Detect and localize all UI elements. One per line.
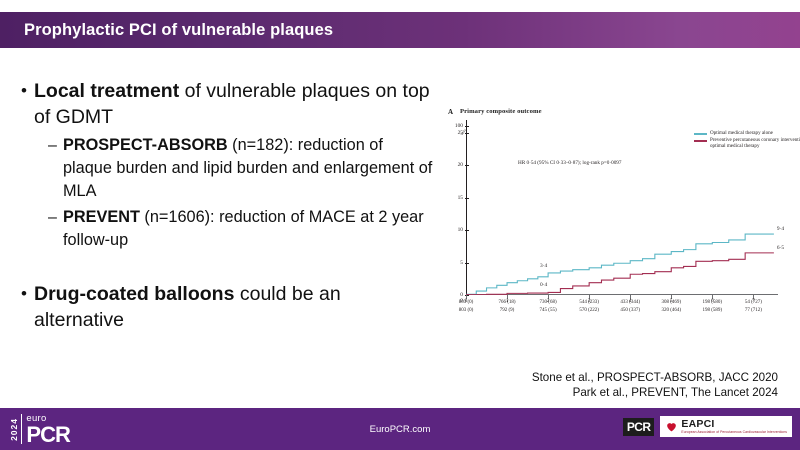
- legend-label: Optimal medical therapy alone: [710, 130, 773, 136]
- table-row: 803 (0)766 (18)730 (68)544 (233)433 (344…: [450, 300, 796, 308]
- bullet-marker-icon: •: [14, 281, 34, 307]
- sub-bullet-prevent: – PREVENT (n=1606): reduction of MACE at…: [48, 206, 434, 252]
- table-cell: 198 (589): [703, 308, 723, 313]
- table-cell: 570 (222): [579, 308, 599, 313]
- sub-bullet-list: – PROSPECT-ABSORB (n=182): reduction of …: [48, 134, 434, 252]
- y-tick-label: 20: [458, 162, 463, 168]
- slide-title-bar: Prophylactic PCI of vulnerable plaques: [0, 12, 800, 48]
- curve-mid-label-intervention: 0·4: [540, 282, 547, 288]
- eapci-subtitle: European Association of Percutaneous Car…: [681, 430, 787, 434]
- eapci-name: EAPCI: [681, 419, 787, 430]
- sub-bullet-bold-lead: PREVENT: [63, 208, 140, 226]
- table-cell: 544 (233): [579, 300, 599, 305]
- chart-legend: Optimal medical therapy alone Preventive…: [694, 130, 800, 151]
- bullet-text: Drug-coated balloons could be an alterna…: [34, 281, 434, 333]
- bullet-text: Local treatment of vulnerable plaques on…: [34, 78, 434, 130]
- bullet-marker-icon: •: [14, 78, 34, 104]
- table-cell: 766 (18): [499, 300, 516, 305]
- curve-end-label-intervention: 6·5: [777, 245, 784, 251]
- footer-logos: PCR EAPCI European Association of Percut…: [623, 416, 792, 437]
- y-tick-label: 100: [455, 123, 463, 129]
- table-cell: 198 (580): [703, 300, 723, 305]
- table-cell: 320 (464): [661, 308, 681, 313]
- dash-marker-icon: –: [48, 206, 63, 229]
- table-cell: 745 (55): [540, 308, 557, 313]
- bullet-item-drug-coated-balloons: • Drug-coated balloons could be an alter…: [14, 281, 434, 333]
- legend-color-swatch: [694, 133, 707, 135]
- chart-panel-letter: A: [448, 108, 453, 116]
- sub-bullet-text: PREVENT (n=1606): reduction of MACE at 2…: [63, 206, 434, 252]
- eapci-text: EAPCI European Association of Percutaneo…: [681, 419, 787, 434]
- citation-line-2: Park et al., PREVENT, The Lancet 2024: [532, 385, 778, 400]
- survival-curve-line: [466, 234, 774, 294]
- y-tick-label: 15: [458, 195, 463, 201]
- slide: Prophylactic PCI of vulnerable plaques •…: [0, 0, 800, 450]
- table-cell: 54 (727): [745, 300, 762, 305]
- sub-bullet-prospect-absorb: – PROSPECT-ABSORB (n=182): reduction of …: [48, 134, 434, 203]
- slide-body: • Local treatment of vulnerable plaques …: [14, 78, 434, 335]
- bullet-item-local-treatment: • Local treatment of vulnerable plaques …: [14, 78, 434, 130]
- table-cell: 792 (9): [500, 308, 515, 313]
- curve-mid-label-control: 3·4: [540, 263, 547, 269]
- legend-item-control: Optimal medical therapy alone: [694, 130, 800, 136]
- table-cell: 77 (712): [745, 308, 762, 313]
- table-cell: 803 (0): [459, 308, 474, 313]
- table-cell: 433 (344): [620, 300, 640, 305]
- legend-item-intervention: Preventive percutaneous coronary interve…: [694, 137, 800, 149]
- numbers-at-risk-table: 803 (0)766 (18)730 (68)544 (233)433 (344…: [450, 300, 796, 316]
- heart-icon: [665, 420, 678, 433]
- slide-footer: 2024 euro PCR EuroPCR.com PCR EAPCI Euro…: [0, 408, 800, 450]
- bullet-bold-lead: Local treatment: [34, 80, 179, 102]
- table-cell: 730 (68): [540, 300, 557, 305]
- table-cell: 803 (0): [459, 300, 474, 305]
- pcr-badge: PCR: [623, 418, 655, 436]
- y-tick-label: 25: [458, 130, 463, 136]
- sub-bullet-bold-lead: PROSPECT-ABSORB: [63, 136, 228, 154]
- sub-bullet-text: PROSPECT-ABSORB (n=182): reduction of pl…: [63, 134, 434, 203]
- page-title: Prophylactic PCI of vulnerable plaques: [0, 21, 333, 40]
- hazard-ratio-annotation: HR 0·54 (95% CI 0·33–0·87); log-rank p=0…: [518, 160, 622, 166]
- table-cell: 308 (469): [661, 300, 681, 305]
- legend-color-swatch: [694, 140, 707, 142]
- eapci-logo: EAPCI European Association of Percutaneo…: [660, 416, 792, 437]
- y-tick-label: 10: [458, 227, 463, 233]
- table-row: 803 (0)792 (9)745 (55)570 (222)450 (337)…: [450, 308, 796, 316]
- chart-plot-area: ⁄⁄ 05101520251000 01234567 HR 0·54 (95% …: [466, 120, 776, 295]
- spacer: [14, 255, 434, 281]
- y-tick-label: 5: [460, 260, 463, 266]
- survival-curve-line: [466, 253, 774, 295]
- curve-end-label-control: 9·4: [777, 226, 784, 232]
- legend-label: Preventive percutaneous coronary interve…: [710, 137, 800, 149]
- chart-title: Primary composite outcome: [460, 108, 542, 115]
- bullet-bold-lead: Drug-coated balloons: [34, 283, 234, 305]
- kaplan-meier-chart: A Primary composite outcome ⁄⁄ 051015202…: [444, 108, 796, 333]
- citation-line-1: Stone et al., PROSPECT-ABSORB, JACC 2020: [532, 370, 778, 385]
- table-cell: 450 (337): [620, 308, 640, 313]
- citation-block: Stone et al., PROSPECT-ABSORB, JACC 2020…: [532, 370, 778, 400]
- dash-marker-icon: –: [48, 134, 63, 157]
